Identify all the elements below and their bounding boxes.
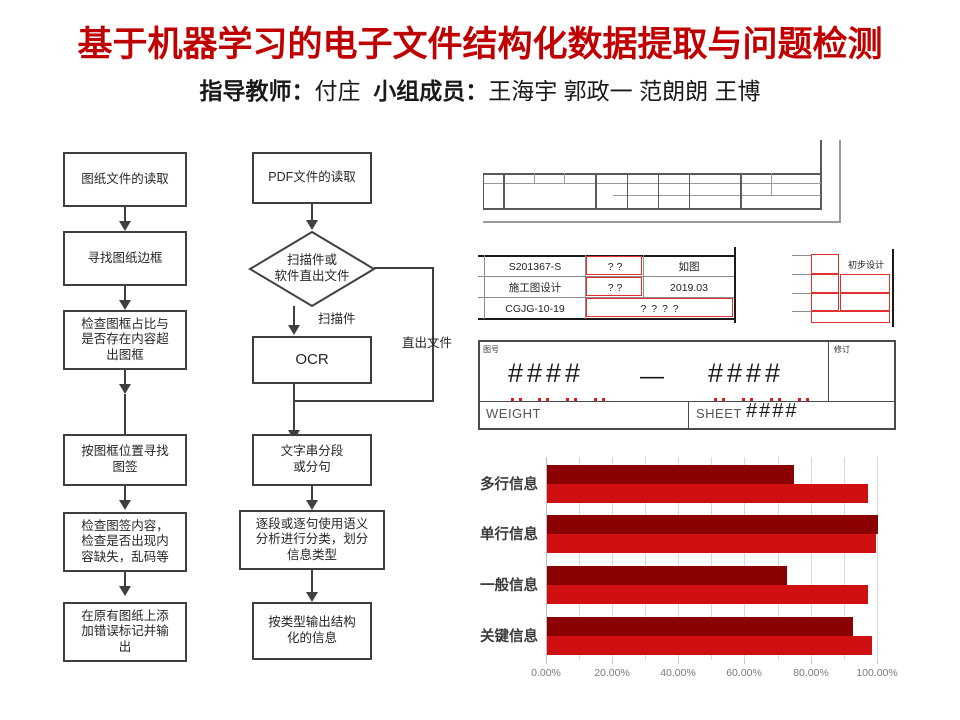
flow-arrow-split-to-classify	[252, 486, 372, 510]
chart-ticklabel-20: 20.00%	[582, 667, 642, 679]
flow-node-3: 检查图框占比与 是否存在内容超 出图框	[63, 310, 187, 370]
chart-ticklabel-60: 60.00%	[714, 667, 774, 679]
hash-vline-revision	[828, 340, 829, 401]
chart-tickmark-20	[612, 660, 613, 664]
flow-arrow-3	[63, 370, 187, 394]
drawing-col-line-7	[689, 173, 690, 209]
members-value: 王海宇 郭政一 范朗朗 王博	[488, 78, 760, 104]
accuracy-bar-chart: 多行信息 单行信息 一般信息 关键信息 0.00% 20.00%	[465, 445, 955, 710]
tb-vline-left	[484, 255, 485, 319]
hash-border-left	[478, 340, 480, 430]
side-vline-right	[892, 249, 894, 327]
ocr-dot-4	[546, 398, 549, 401]
side-box-r4	[811, 311, 890, 323]
tb-cell-r2c1: 施工图设计	[486, 278, 584, 297]
flow-arrow-5	[63, 572, 187, 596]
side-hline-0	[792, 255, 812, 256]
ocr-dot-14	[778, 398, 781, 401]
ocr-dot-15	[798, 398, 801, 401]
flow-arrow-classify-to-output	[252, 570, 372, 602]
hash-weight-label: WEIGHT	[486, 406, 541, 421]
side-box-r1c1	[811, 254, 839, 274]
chart-tickmark-40	[678, 660, 679, 664]
drawing-left-edge	[483, 173, 484, 209]
tb-cell-r1c1: S201367-S	[486, 257, 584, 276]
hash-border-right	[894, 340, 896, 430]
tb-cell-r3c1: CGJG-10-19	[486, 299, 584, 318]
chart-bar-s1-c3	[547, 617, 853, 636]
ocr-dot-6	[574, 398, 577, 401]
hash-border-top	[478, 340, 896, 342]
drawing-col-line-5	[627, 173, 628, 209]
chart-bar-s2-c2	[547, 585, 868, 604]
tb-vline-right	[734, 247, 736, 323]
hash-right-value: ####	[708, 358, 784, 389]
chart-category-label-3: 关键信息	[460, 625, 538, 646]
chart-tickmark-0	[546, 660, 547, 664]
hash-dash: —	[640, 363, 664, 391]
chart-gridline-100	[877, 457, 878, 660]
flow-link-3-4	[124, 394, 126, 434]
ocr-dot-16	[806, 398, 809, 401]
drawing-frame-preview	[465, 140, 950, 240]
ocr-dot-7	[594, 398, 597, 401]
hash-left-value: ####	[508, 358, 584, 389]
flow-arrow-2	[63, 286, 187, 310]
tb-highlight-r2	[586, 277, 642, 296]
side-box-r2c2	[840, 274, 890, 293]
chart-tickmark-100	[877, 660, 878, 664]
flow-node-6: 在原有图纸上添 加错误标记并输 出	[63, 602, 187, 662]
hash-number-block: 图号 修订 #### — #### WEIGHT SHEET ####	[478, 340, 896, 432]
chart-category-label-2: 一般信息	[460, 574, 538, 595]
flow-branch-direct-top	[374, 267, 434, 269]
flow-edge-label-scan: 扫描件	[318, 308, 356, 327]
hash-border-bottom	[478, 428, 896, 430]
side-hline-1	[792, 274, 812, 275]
flow-decision-label: 扫描件或 软件直出文件	[248, 230, 376, 308]
chart-tickmark-80	[811, 660, 812, 664]
flow-node-4: 按图框位置寻找 图签	[63, 434, 187, 486]
hash-sheet-label: SHEET	[696, 406, 742, 421]
side-box-r2c1	[811, 274, 839, 293]
flowchart-middle: PDF文件的读取 扫描件或 软件直出文件 扫描件 OCR 直出文件 文字串分段 …	[230, 0, 465, 720]
drawing-col-line-1	[503, 173, 505, 209]
drawing-col-line-9	[771, 173, 772, 195]
side-hline-2	[792, 293, 812, 294]
ocr-dot-5	[566, 398, 569, 401]
drawing-col-line-2	[534, 173, 535, 184]
chart-tickmark-60	[744, 660, 745, 664]
flow-node-5: 检查图签内容， 检查是否出现内 容缺失，乱码等	[63, 512, 187, 572]
ocr-dot-9	[714, 398, 717, 401]
ocr-dot-10	[722, 398, 725, 401]
hash-hline-mid	[478, 401, 896, 402]
chart-bar-s2-c3	[547, 636, 872, 655]
drawing-row-line-3	[613, 195, 821, 196]
chart-ticklabel-0: 0.00%	[516, 667, 576, 679]
chart-category-label-1: 单行信息	[460, 523, 538, 544]
hash-label-tuhao: 图号	[483, 344, 499, 355]
flow-node-1: 图纸文件的读取	[63, 152, 187, 207]
chart-ticklabel-40: 40.00%	[648, 667, 708, 679]
ocr-dot-3	[538, 398, 541, 401]
side-box-r3c1	[811, 293, 839, 311]
ocr-dot-2	[519, 398, 522, 401]
hash-vline-sheet	[688, 401, 689, 429]
titleblock-side-table: 初步设计	[800, 253, 920, 325]
slide-root: 基于机器学习的电子文件结构化数据提取与问题检测 指导教师：付庄 小组成员：王海宇…	[0, 0, 960, 720]
drawing-col-line-8	[740, 173, 742, 209]
tb-highlight-r1	[586, 256, 642, 275]
side-box-r3c2	[840, 293, 890, 311]
flow-node-output: 按类型输出结构 化的信息	[252, 602, 372, 660]
flow-node-split: 文字串分段 或分句	[252, 434, 372, 486]
tb-vline-2	[643, 255, 644, 298]
chart-bar-s2-c1	[547, 534, 876, 553]
hash-sheet-value: ####	[746, 400, 799, 423]
chart-ticklabel-80: 80.00%	[781, 667, 841, 679]
side-hline-3	[792, 311, 812, 312]
hash-label-xiuding: 修订	[834, 344, 850, 355]
titleblock-table: S201367-S ? ? 如图 施工图设计 ? ? 2019.03 CGJG-…	[478, 255, 738, 323]
flowchart-left: 图纸文件的读取 寻找图纸边框 检查图框占比与 是否存在内容超 出图框 按图框位置…	[0, 0, 230, 720]
tb-cell-r2c3: 2019.03	[645, 278, 733, 297]
flow-edge-label-direct: 直出文件	[402, 332, 452, 351]
chart-bar-s1-c1	[547, 515, 878, 534]
chart-bar-s1-c0	[547, 465, 794, 484]
flow-node-pdf-read: PDF文件的读取	[252, 152, 372, 204]
drawing-inner-border-right	[820, 140, 822, 210]
drawing-col-line-3	[564, 173, 565, 184]
ocr-dot-12	[750, 398, 753, 401]
flow-node-classify: 逐段或逐句使用语义 分析进行分类，划分 信息类型	[239, 510, 385, 570]
ocr-dot-1	[511, 398, 514, 401]
flow-decision-scan-or-direct: 扫描件或 软件直出文件	[248, 230, 376, 308]
flow-node-2: 寻找图纸边框	[63, 231, 187, 286]
side-label-chubu: 初步设计	[842, 255, 890, 273]
ocr-dot-11	[742, 398, 745, 401]
drawing-outer-border-right	[839, 140, 841, 222]
flow-node-ocr: OCR	[252, 336, 372, 384]
ocr-dot-13	[770, 398, 773, 401]
tb-hline-bottom	[478, 318, 736, 320]
drawing-col-line-4	[595, 173, 597, 209]
flow-arrow-4	[63, 486, 187, 510]
drawing-col-line-6	[658, 173, 659, 209]
tb-cell-r1c3: 如图	[645, 257, 733, 276]
chart-bar-s1-c2	[547, 566, 787, 585]
ocr-dot-8	[602, 398, 605, 401]
chart-ticklabel-100: 100.00%	[847, 667, 907, 679]
flow-arrow-pdf-to-decision	[252, 204, 372, 230]
tb-highlight-r3	[586, 298, 733, 317]
flow-arrow-1	[63, 207, 187, 231]
drawing-row-line-4	[483, 208, 821, 210]
drawing-outer-border-bottom	[483, 221, 841, 223]
chart-bar-s2-c0	[547, 484, 868, 503]
chart-category-label-0: 多行信息	[460, 473, 538, 494]
chart-plot-area: 多行信息 单行信息 一般信息 关键信息 0.00% 20.00%	[465, 445, 955, 710]
